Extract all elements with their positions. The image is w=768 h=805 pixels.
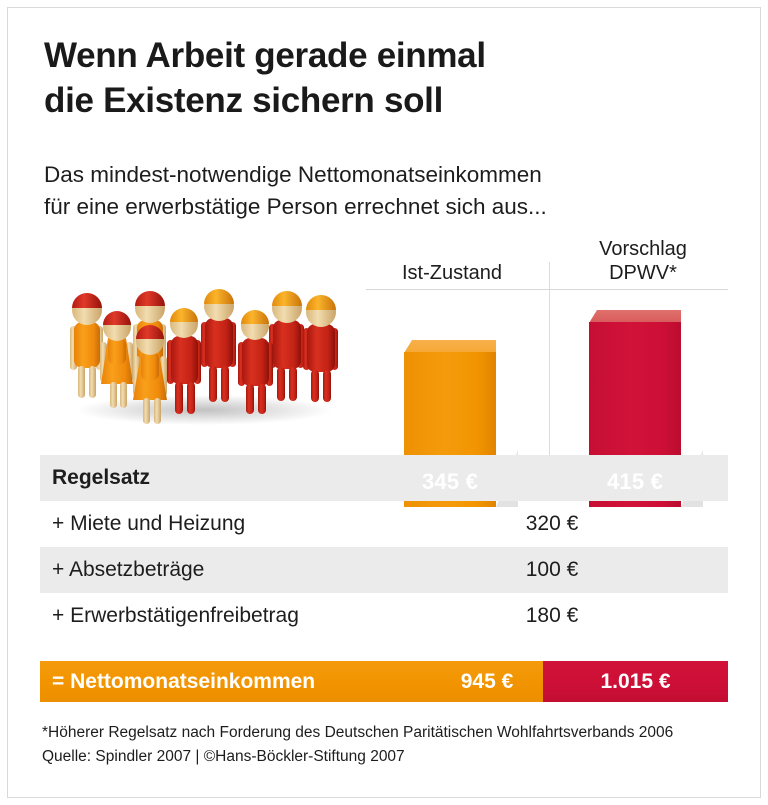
column-header-vorschlag-line-2: DPWV*: [558, 262, 728, 286]
total-row: = Nettomonatseinkommen 945 € 1.015 €: [40, 661, 728, 702]
subtitle-line-2: für eine erwerbstätige Person errechnet …: [44, 191, 704, 223]
page-subtitle: Das mindest-notwendige Nettomonatseinkom…: [44, 159, 704, 223]
table-row-value: 100 €: [492, 547, 612, 593]
footnote-line-2: Quelle: Spindler 2007 | ©Hans-Böckler-St…: [42, 745, 732, 769]
table-row-label: + Miete und Heizung: [52, 501, 245, 547]
page-title: Wenn Arbeit gerade einmal die Existenz s…: [44, 34, 704, 124]
bar-vorschlag-dpwv: 415 €: [589, 310, 681, 507]
infographic-page: Wenn Arbeit gerade einmal die Existenz s…: [0, 0, 768, 805]
total-value-ist-zustand: 945 €: [432, 661, 542, 702]
total-value-vorschlag: 1.015 €: [543, 661, 728, 702]
headline-line-2: die Existenz sichern soll: [44, 79, 704, 124]
bar-vorschlag-dpwv-value: 415 €: [589, 469, 681, 495]
table-row: + Erwerbstätigenfreibetrag 180 €: [40, 593, 728, 639]
table-row: + Absetzbeträge 100 €: [40, 547, 728, 593]
table-row: + Miete und Heizung 320 €: [40, 501, 728, 547]
footnotes: *Höherer Regelsatz nach Forderung des De…: [42, 721, 732, 768]
column-header-vorschlag-dpwv: Vorschlag DPWV*: [558, 238, 728, 285]
table-row-label: + Absetzbeträge: [52, 547, 204, 593]
group-of-people-icon: [54, 284, 344, 429]
subtitle-line-1: Das mindest-notwendige Nettomonatseinkom…: [44, 162, 542, 187]
table-row-label: + Erwerbstätigenfreibetrag: [52, 593, 299, 639]
total-row-label: = Nettomonatseinkommen: [52, 661, 315, 702]
table-row-value: 180 €: [492, 593, 612, 639]
column-header-vorschlag-line-1: Vorschlag: [599, 238, 687, 260]
table-row-value: 320 €: [492, 501, 612, 547]
column-header-ist-zustand: Ist-Zustand: [372, 262, 532, 286]
bar-ist-zustand: 345 €: [404, 340, 496, 507]
header-divider-rule: [366, 289, 728, 290]
column-header-ist-zustand-label: Ist-Zustand: [402, 262, 502, 284]
table-row-label: Regelsatz: [52, 455, 150, 501]
footnote-line-1: *Höherer Regelsatz nach Forderung des De…: [42, 721, 732, 745]
headline-line-1: Wenn Arbeit gerade einmal: [44, 36, 486, 75]
bar-ist-zustand-value: 345 €: [404, 469, 496, 495]
